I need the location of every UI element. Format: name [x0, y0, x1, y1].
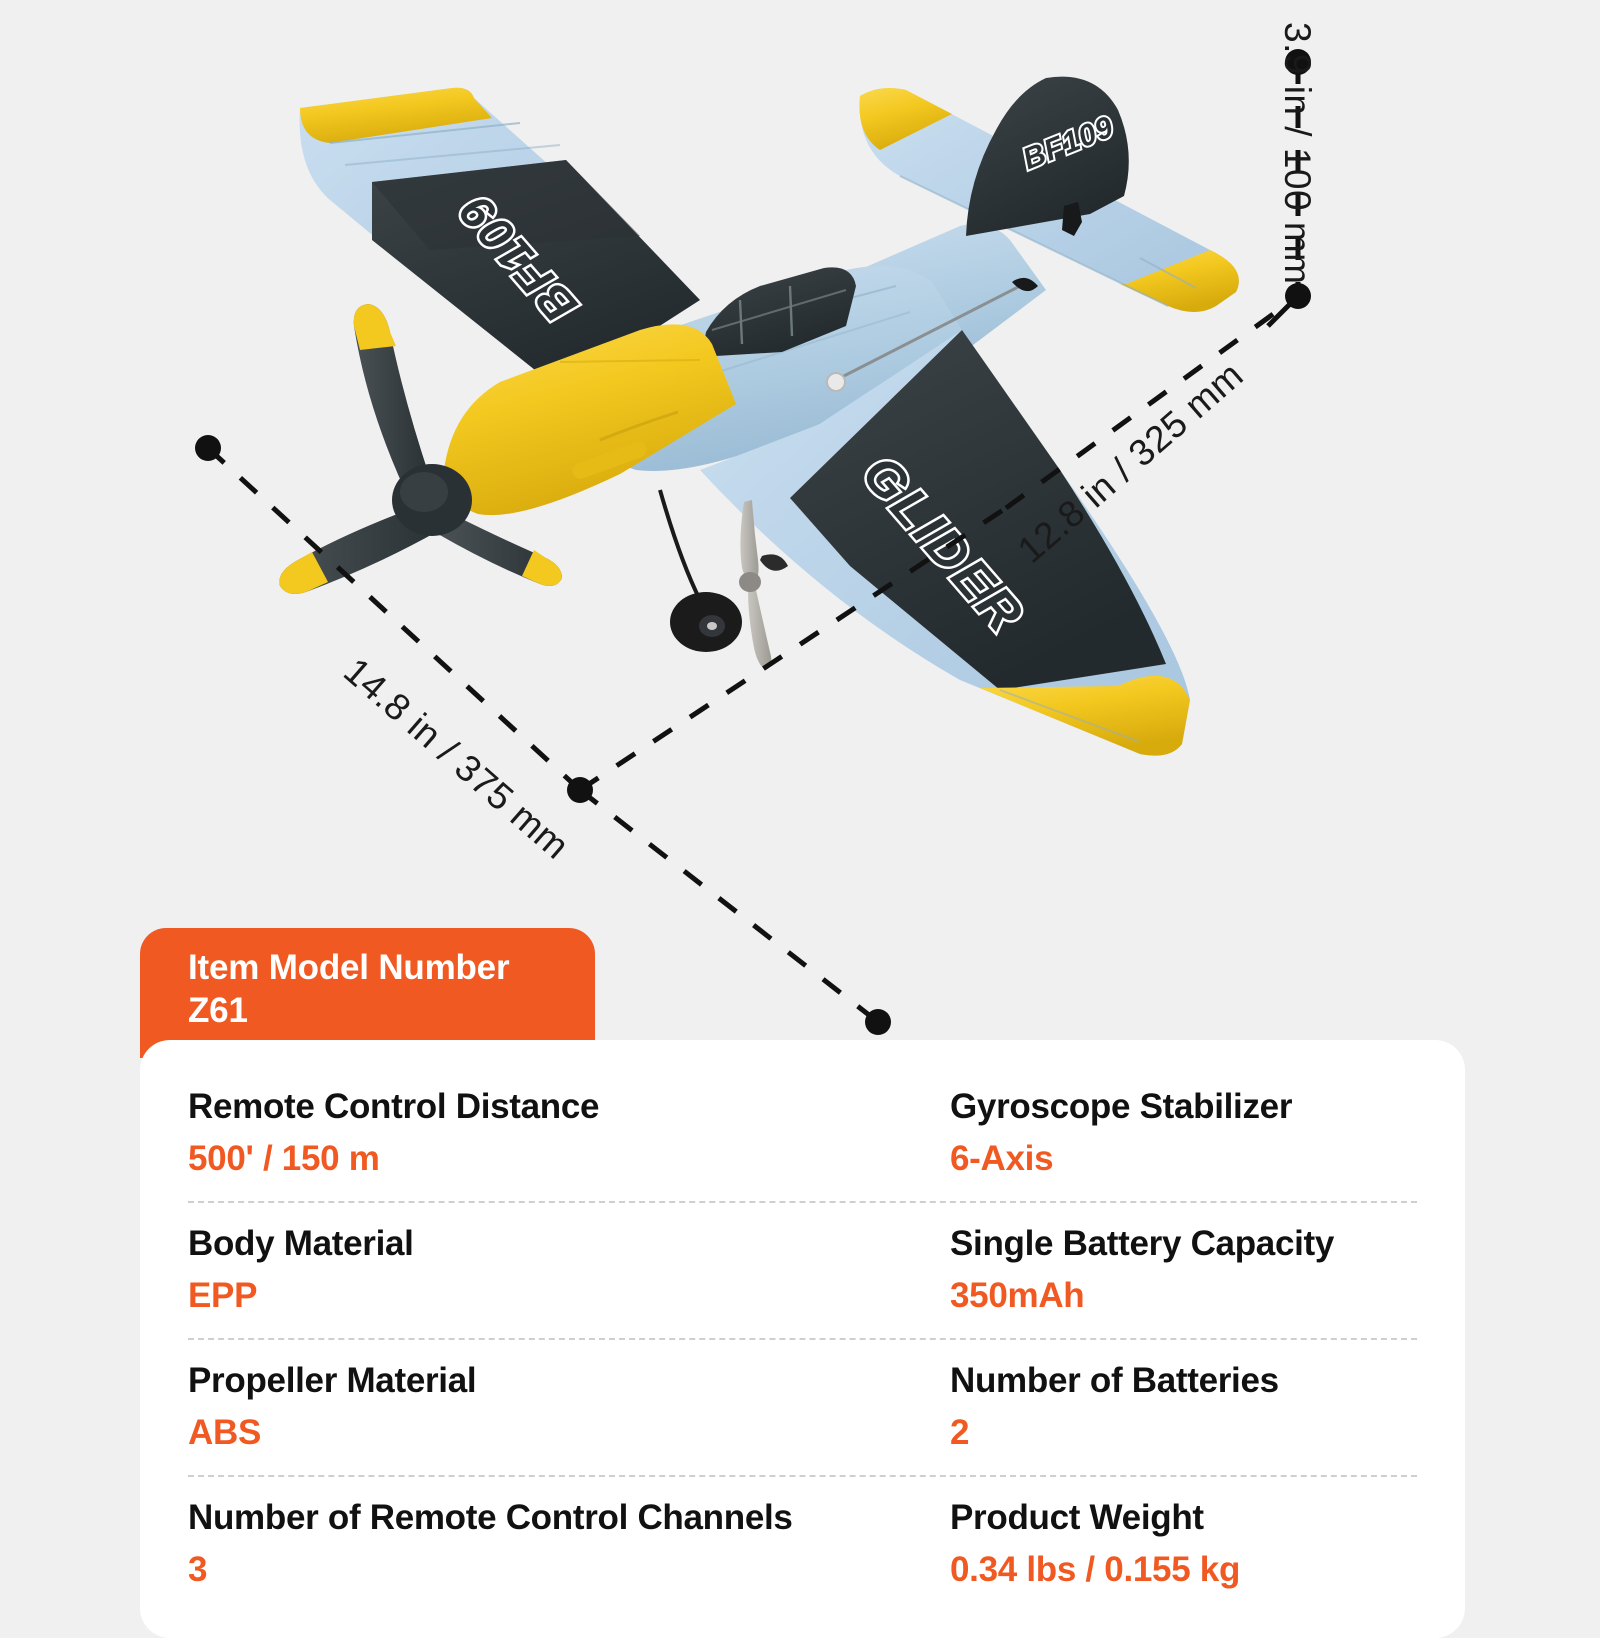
spec-cell-body-material: Body Material EPP — [140, 1201, 940, 1338]
nose-cowling — [444, 324, 736, 515]
spec-cell-propeller-material: Propeller Material ABS — [140, 1338, 940, 1475]
badge-title: Item Model Number — [188, 947, 595, 990]
spec-key: Remote Control Distance — [188, 1084, 920, 1130]
spec-cell-number-of-batteries: Number of Batteries 2 — [940, 1338, 1465, 1475]
spec-cell-single-battery-capacity: Single Battery Capacity 350mAh — [940, 1201, 1465, 1338]
spec-value: EPP — [188, 1273, 920, 1319]
spec-value: 500' / 150 m — [188, 1136, 920, 1182]
table-row: Number of Remote Control Channels 3 Prod… — [140, 1475, 1465, 1612]
spec-value: 6-Axis — [950, 1136, 1445, 1182]
spec-key: Number of Remote Control Channels — [188, 1495, 920, 1541]
specification-card: Remote Control Distance 500' / 150 m Gyr… — [140, 1040, 1465, 1638]
table-row: Remote Control Distance 500' / 150 m Gyr… — [140, 1064, 1465, 1201]
spec-key: Single Battery Capacity — [950, 1221, 1445, 1267]
spec-key: Gyroscope Stabilizer — [950, 1084, 1445, 1130]
rc-airplane-illustration: BF109 BF109 BF109 BF109 — [0, 0, 1600, 930]
spec-value: 2 — [950, 1410, 1445, 1456]
badge-value: Z61 — [188, 990, 595, 1033]
spec-value: 350mAh — [950, 1273, 1445, 1319]
spec-cell-product-weight: Product Weight 0.34 lbs / 0.155 kg — [940, 1475, 1465, 1612]
spec-key: Propeller Material — [188, 1358, 920, 1404]
spec-value: 3 — [188, 1547, 920, 1593]
spec-value: ABS — [188, 1410, 920, 1456]
spec-key: Number of Batteries — [950, 1358, 1445, 1404]
item-model-number-badge: Item Model Number Z61 — [140, 928, 595, 1058]
spec-key: Body Material — [188, 1221, 920, 1267]
product-photo: BF109 BF109 BF109 BF109 — [0, 0, 1600, 930]
landing-gear-wheel — [670, 592, 742, 652]
spec-key: Product Weight — [950, 1495, 1445, 1541]
table-row: Propeller Material ABS Number of Batteri… — [140, 1338, 1465, 1475]
spec-cell-number-of-remote-control-channels: Number of Remote Control Channels 3 — [140, 1475, 940, 1612]
spec-cell-remote-control-distance: Remote Control Distance 500' / 150 m — [140, 1064, 940, 1201]
table-row: Body Material EPP Single Battery Capacit… — [140, 1201, 1465, 1338]
spec-value: 0.34 lbs / 0.155 kg — [950, 1547, 1445, 1593]
spec-cell-gyroscope-stabilizer: Gyroscope Stabilizer 6-Axis — [940, 1064, 1465, 1201]
